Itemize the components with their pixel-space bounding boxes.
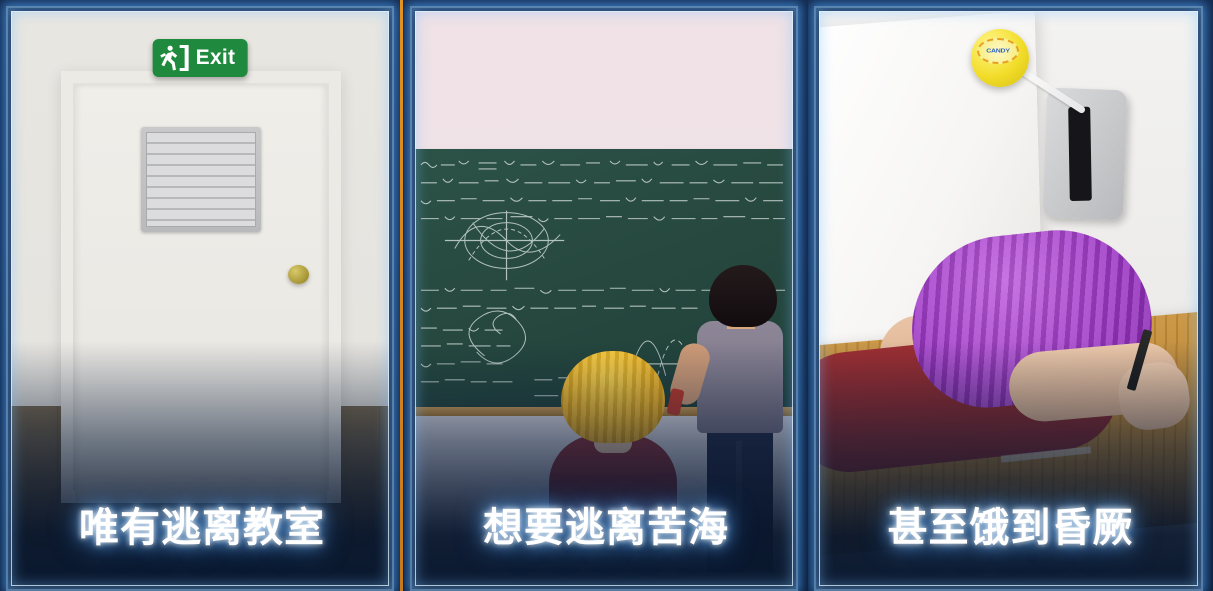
lollipop-label-text: CANDY: [986, 48, 1009, 54]
exit-sign-label: Exit: [196, 46, 236, 70]
teacher-head: [709, 265, 777, 327]
door-knob[interactable]: [288, 265, 309, 284]
panel-door[interactable]: Exit 唯有逃离教室: [0, 0, 404, 591]
running-man-exit-icon: [159, 43, 191, 73]
louver-vent-icon: [141, 127, 261, 232]
exit-sign: Exit: [153, 39, 248, 77]
bottom-fade: [819, 341, 1198, 591]
panel-caption-1: 唯有逃离教室: [0, 495, 404, 553]
panel-blackboard[interactable]: 想要逃离苦海: [404, 0, 808, 591]
panel-divider-amber: [400, 0, 403, 591]
screenshot-gallery: Exit 唯有逃离教室: [0, 0, 1213, 591]
lollipop: CANDY: [971, 29, 1029, 87]
panel-caption-3: 甚至饿到昏厥: [808, 495, 1213, 553]
panel-caption-2: 想要逃离苦海: [404, 495, 808, 553]
lollipop-label: CANDY: [977, 38, 1019, 64]
bottom-fade: [415, 341, 793, 591]
panel-desk[interactable]: CANDY HUNG 甚至饿到昏厥: [808, 0, 1213, 591]
bottom-fade: [11, 341, 389, 591]
